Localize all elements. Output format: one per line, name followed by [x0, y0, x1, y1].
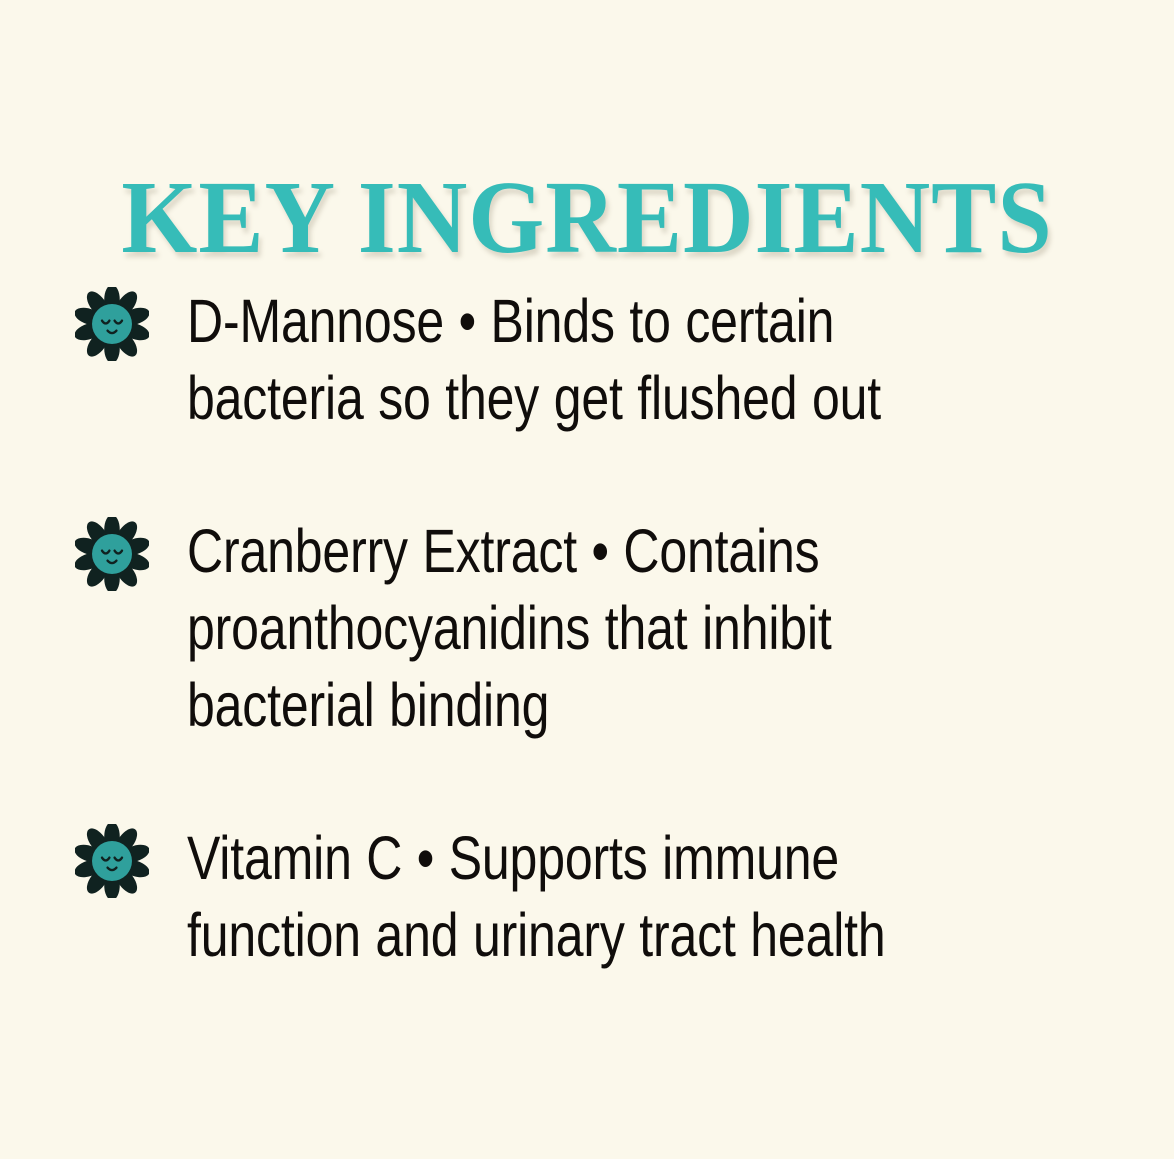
smiling-flower-icon: [75, 517, 149, 591]
ingredient-description: Cranberry Extract • Contains proanthocya…: [187, 513, 923, 744]
smiling-flower-icon: [75, 824, 149, 898]
list-item: D-Mannose • Binds to certain bacteria so…: [75, 283, 1085, 437]
list-item: Vitamin C • Supports immune function and…: [75, 820, 1085, 974]
ingredients-list: D-Mannose • Binds to certain bacteria so…: [75, 283, 1085, 974]
ingredient-description: D-Mannose • Binds to certain bacteria so…: [187, 283, 923, 437]
key-ingredients-card: KEY INGREDIENTS: [0, 0, 1174, 1159]
list-item: Cranberry Extract • Contains proanthocya…: [75, 513, 1085, 744]
page-title: KEY INGREDIENTS: [35, 166, 1139, 270]
smiling-flower-icon: [75, 287, 149, 361]
ingredient-description: Vitamin C • Supports immune function and…: [187, 820, 923, 974]
